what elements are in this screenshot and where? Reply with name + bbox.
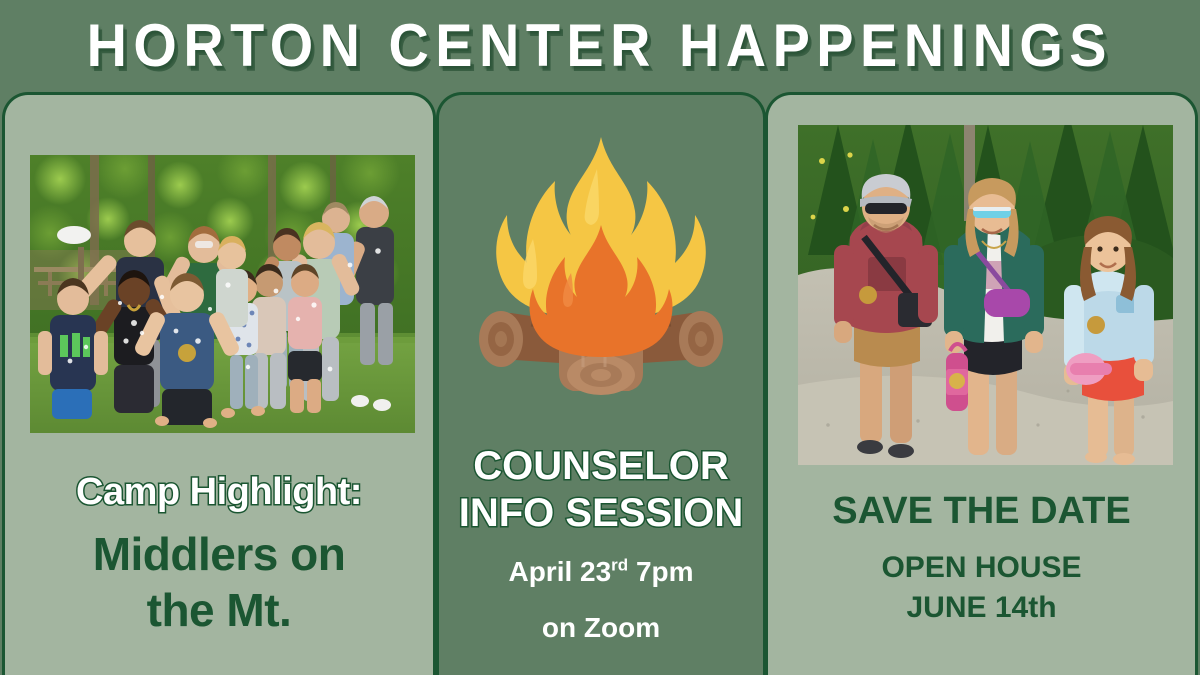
camper-group-photo-art bbox=[30, 155, 415, 433]
counselor-heading-line1: COUNSELOR bbox=[447, 443, 755, 490]
open-house-walkers-photo bbox=[798, 125, 1173, 465]
counselor-info-panel: COUNSELOR INFO SESSION April 23rd 7pm on… bbox=[436, 92, 766, 675]
camper-group-photo bbox=[30, 155, 415, 433]
open-house-label: OPEN HOUSE bbox=[780, 548, 1183, 588]
open-house-date: JUNE 14th bbox=[780, 588, 1183, 628]
save-the-date-heading: SAVE THE DATE bbox=[780, 488, 1183, 534]
open-house-walkers-photo-art bbox=[798, 125, 1173, 465]
session-date-ordinal: rd bbox=[611, 556, 628, 575]
camp-highlight-subheading-line1: Middlers on bbox=[19, 526, 419, 582]
camp-highlight-panel: Camp Highlight: Middlers on the Mt. bbox=[2, 92, 436, 675]
poster-title-bar: HORTON CENTER HAPPENINGS bbox=[0, 0, 1200, 92]
camp-highlight-subheading: Middlers on the Mt. bbox=[19, 526, 419, 638]
counselor-session-platform: on Zoom bbox=[447, 607, 755, 649]
camp-highlight-subheading-line2: the Mt. bbox=[19, 582, 419, 638]
counselor-heading-line2: INFO SESSION bbox=[447, 490, 755, 537]
save-the-date-text: SAVE THE DATE OPEN HOUSE JUNE 14th bbox=[768, 488, 1195, 628]
counselor-session-datetime: April 23rd 7pm bbox=[447, 551, 755, 593]
page-title: HORTON CENTER HAPPENINGS bbox=[87, 16, 1113, 76]
session-time: 7pm bbox=[628, 556, 693, 587]
session-date-prefix: April 23 bbox=[508, 556, 611, 587]
counselor-info-text: COUNSELOR INFO SESSION April 23rd 7pm on… bbox=[439, 443, 763, 649]
campfire-icon bbox=[471, 133, 731, 408]
save-the-date-panel: SAVE THE DATE OPEN HOUSE JUNE 14th bbox=[765, 92, 1198, 675]
camp-highlight-text: Camp Highlight: Middlers on the Mt. bbox=[5, 470, 433, 638]
poster-canvas: HORTON CENTER HAPPENINGS bbox=[0, 0, 1200, 675]
campfire-icon-art bbox=[471, 133, 731, 403]
camp-highlight-heading: Camp Highlight: bbox=[19, 470, 419, 514]
